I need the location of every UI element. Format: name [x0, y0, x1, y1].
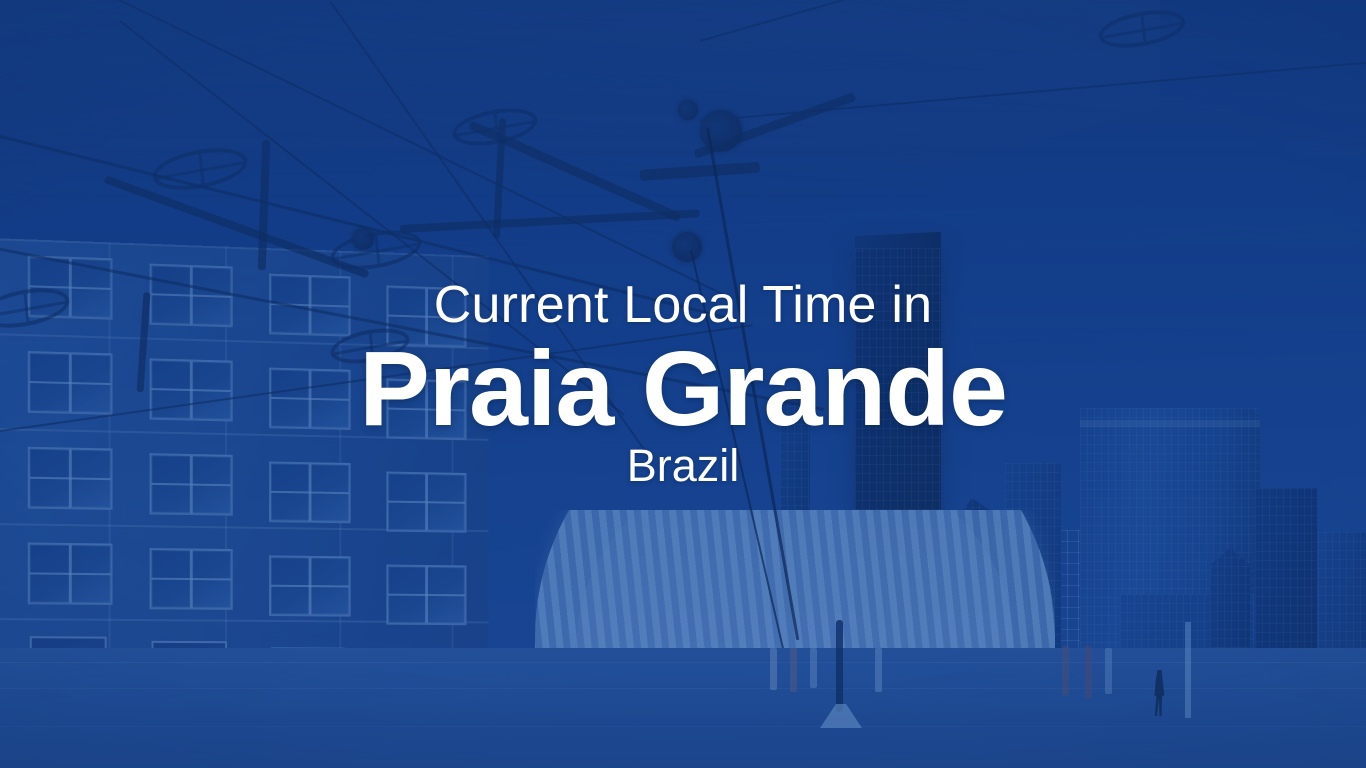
plaza-sign-post [1185, 622, 1191, 718]
banner-flag [810, 648, 817, 688]
anchor-mast [836, 620, 843, 712]
banner-flag [790, 648, 797, 692]
canopy-joint [352, 228, 374, 250]
background-photo [0, 0, 1366, 768]
banner-flag [1062, 646, 1069, 696]
banner-flag [1105, 648, 1112, 694]
hero-banner: Current Local Time in Praia Grande Brazi… [0, 0, 1366, 768]
building-facade [0, 238, 489, 708]
skyline-tower-far-a [1255, 488, 1317, 668]
canopy-joint [672, 232, 702, 262]
banner-flag [875, 648, 882, 692]
banner-flag [770, 648, 777, 690]
banner-flag [1085, 646, 1092, 698]
canopy-joint [678, 100, 698, 120]
